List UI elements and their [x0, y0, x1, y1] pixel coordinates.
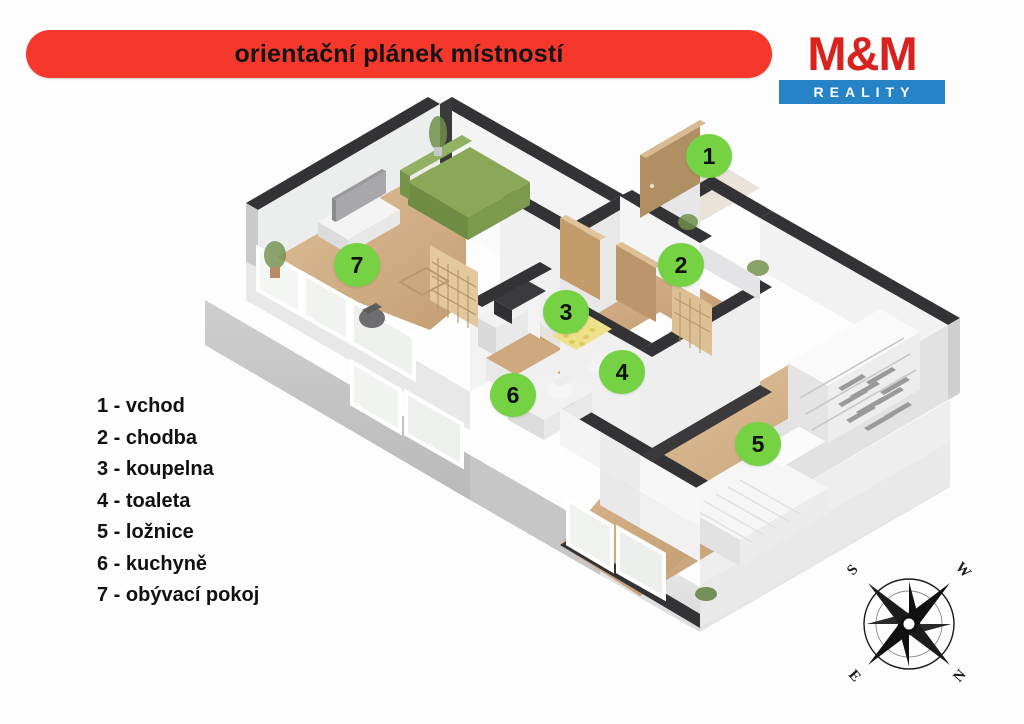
room-marker-3-number: 3: [560, 299, 573, 326]
room-marker-7-number: 7: [351, 252, 364, 279]
legend-item-4: 4 - toaleta: [97, 491, 259, 512]
room-marker-5-number: 5: [752, 431, 765, 458]
legend-item-6: 6 - kuchyně: [97, 554, 259, 575]
room-marker-7[interactable]: 7: [334, 243, 380, 287]
room-marker-5[interactable]: 5: [735, 422, 781, 466]
furniture-plant-bedroom: [695, 587, 717, 601]
room-marker-3[interactable]: 3: [543, 290, 589, 334]
room-marker-1-number: 1: [703, 143, 716, 170]
legend-item-3: 3 - koupelna: [97, 459, 259, 480]
legend-item-7: 7 - obývací pokoj: [97, 585, 259, 606]
room-marker-6[interactable]: 6: [490, 373, 536, 417]
room-marker-1[interactable]: 1: [686, 134, 732, 178]
room-marker-4-number: 4: [616, 359, 629, 386]
room-marker-4[interactable]: 4: [599, 350, 645, 394]
compass-rose: S W E N: [843, 558, 975, 690]
room-marker-2[interactable]: 2: [658, 243, 704, 287]
room-marker-2-number: 2: [675, 252, 688, 279]
furniture-plant-hall-1: [678, 214, 698, 230]
room-legend: 1 - vchod 2 - chodba 3 - koupelna 4 - to…: [97, 396, 259, 617]
legend-item-5: 5 - ložnice: [97, 522, 259, 543]
legend-item-2: 2 - chodba: [97, 428, 259, 449]
legend-item-1: 1 - vchod: [97, 396, 259, 417]
room-marker-6-number: 6: [507, 382, 520, 409]
